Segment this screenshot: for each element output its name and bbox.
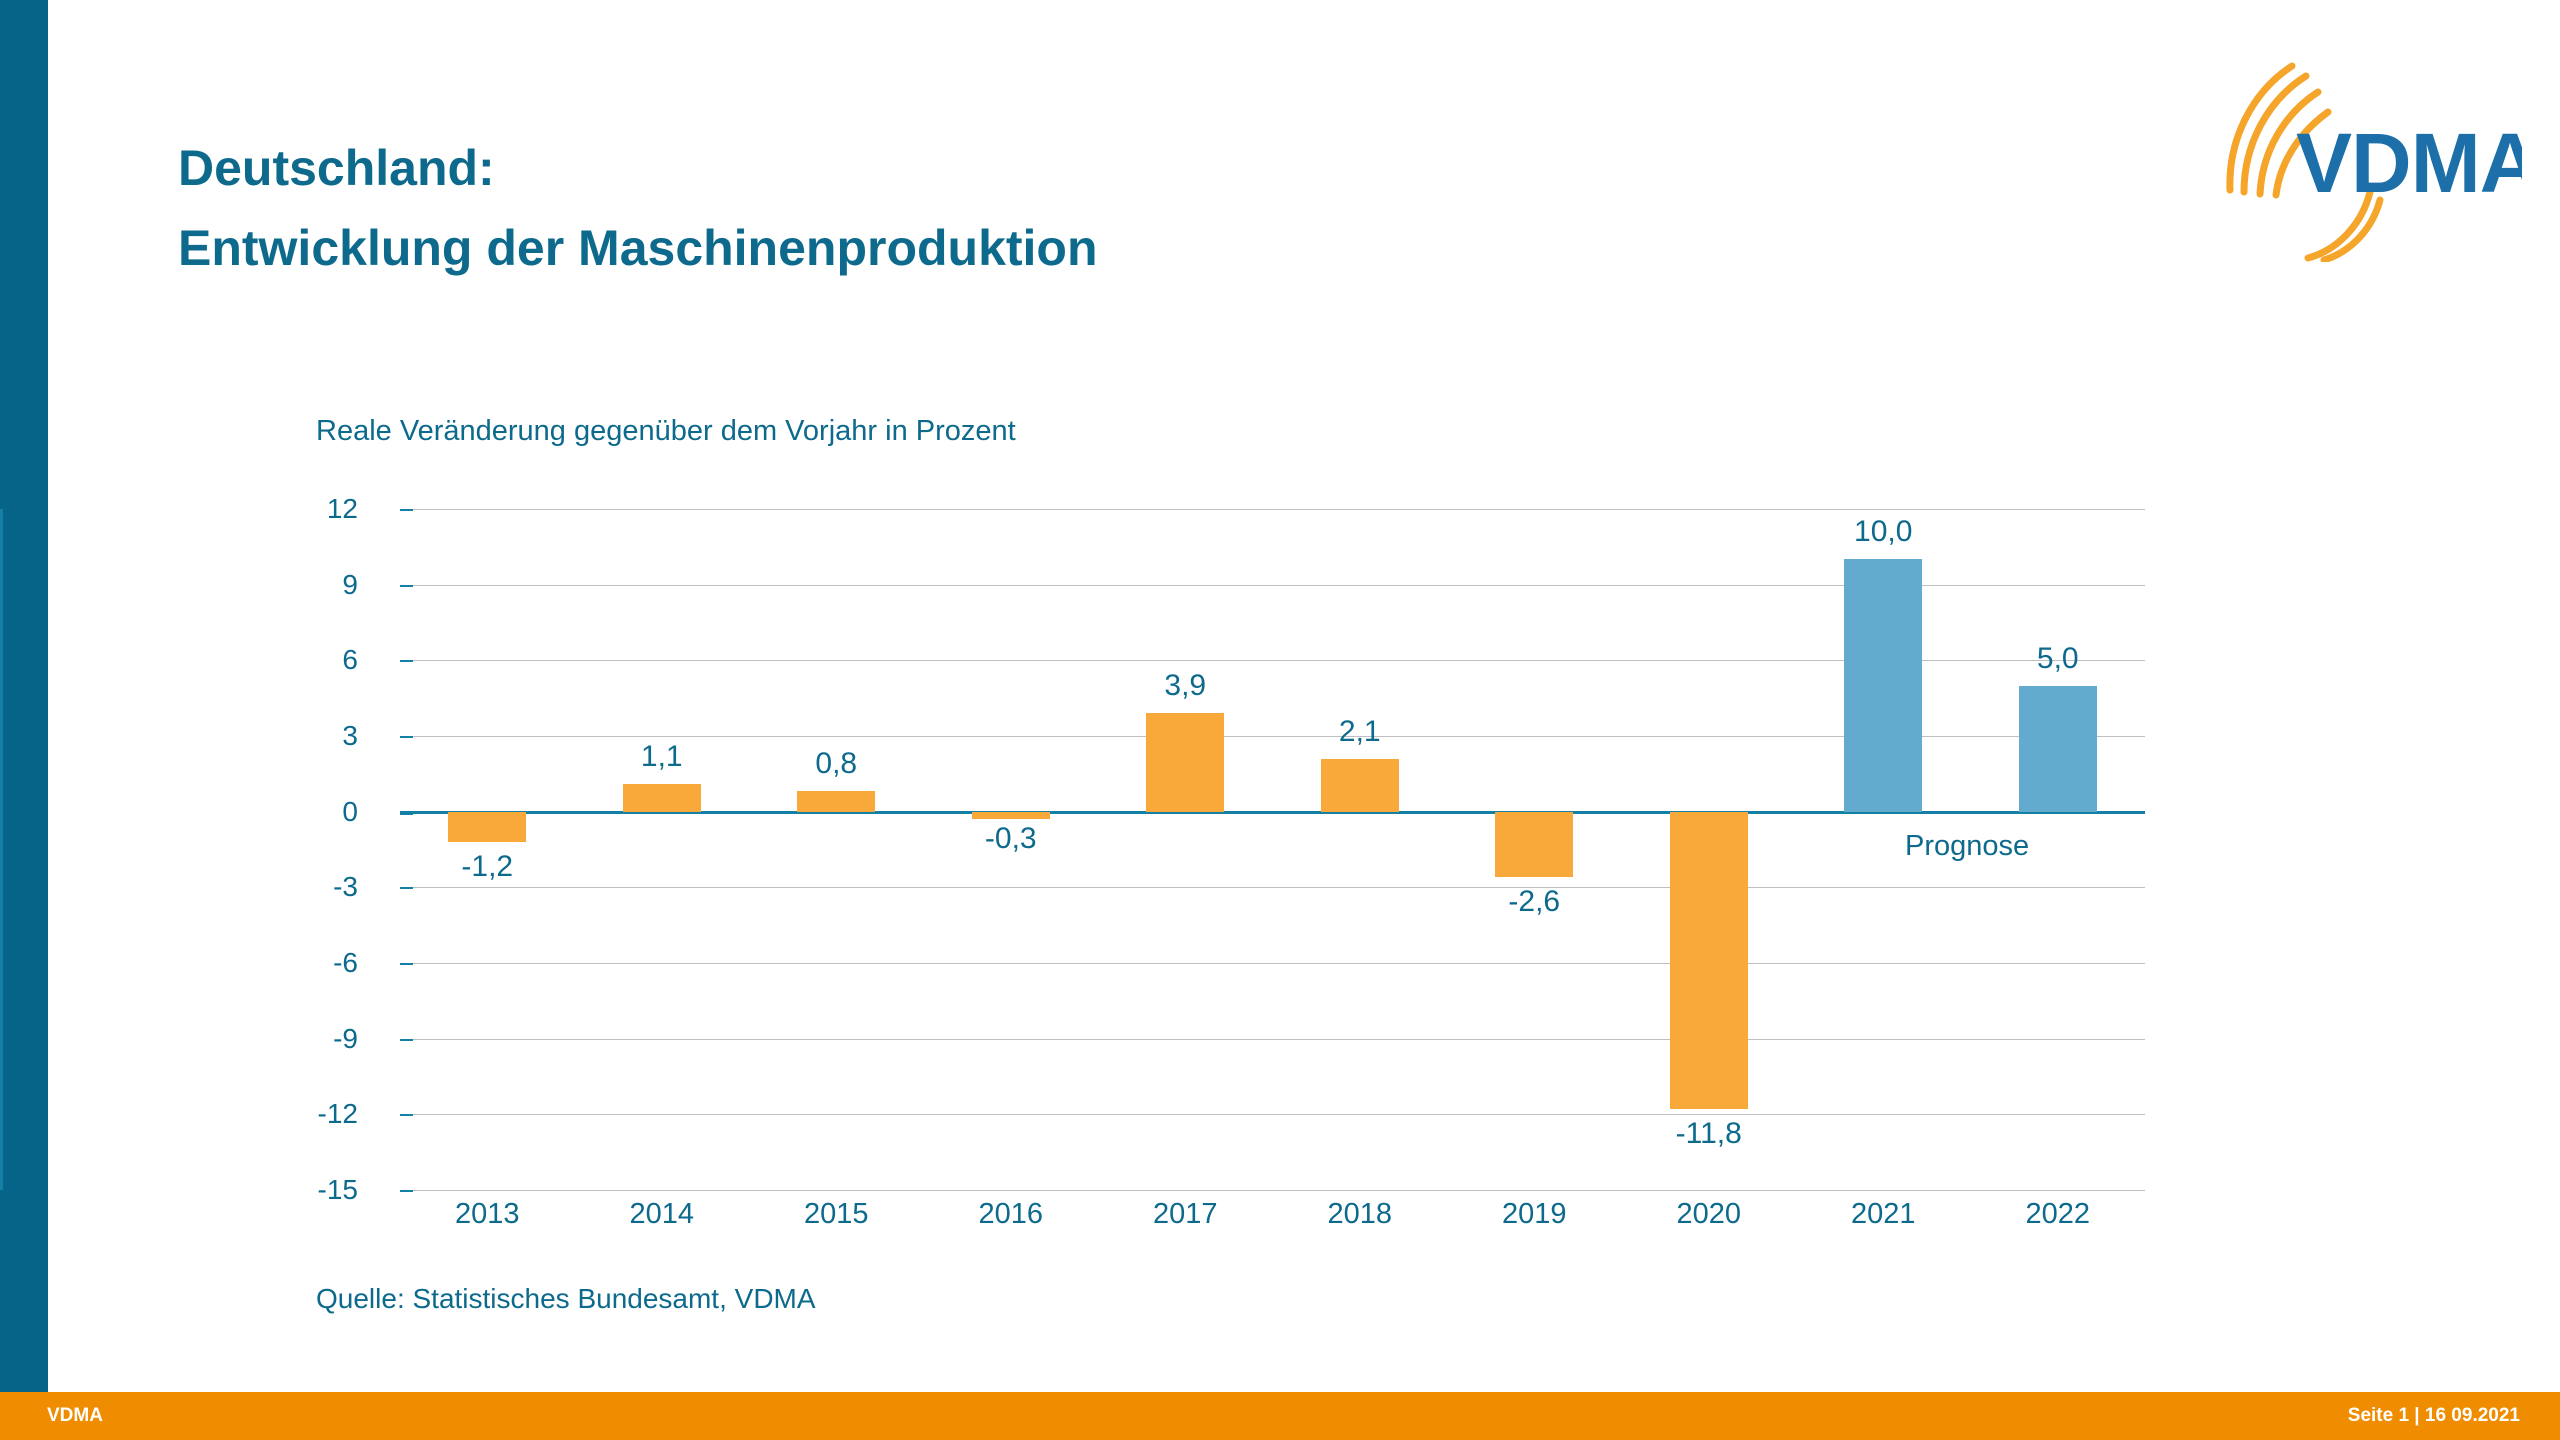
y-tick-mark <box>400 736 413 738</box>
x-axis-label-2013: 2013 <box>455 1198 520 1231</box>
x-axis-label-2019: 2019 <box>1502 1198 1567 1231</box>
y-tick-mark <box>400 660 413 662</box>
bar-value-label-2018: 2,1 <box>1339 715 1381 749</box>
footer-bar: VDMA Seite 1 | 16 09.2021 <box>0 1392 2560 1440</box>
title-line-1: Deutschland: <box>178 128 1978 208</box>
bar-value-label-2013: -1,2 <box>461 850 513 884</box>
y-axis-label: 9 <box>342 569 358 601</box>
y-tick-mark <box>400 1114 413 1116</box>
y-tick-mark <box>400 887 413 889</box>
bar-2018[interactable] <box>1321 759 1399 812</box>
x-axis-label-2017: 2017 <box>1153 1198 1218 1231</box>
gridline-neg6 <box>400 963 2145 964</box>
chart-plot-area: -1,21,10,8-0,33,92,1-2,6-11,810,05,0 <box>400 509 2145 1190</box>
bar-2017[interactable] <box>1146 713 1224 811</box>
slide-canvas: Deutschland: Entwicklung der Maschinenpr… <box>0 0 2560 1440</box>
x-axis-label-2014: 2014 <box>629 1198 694 1231</box>
y-axis-line <box>0 509 3 1190</box>
x-axis-label-2016: 2016 <box>978 1198 1043 1231</box>
gridline-neg12 <box>400 1114 2145 1115</box>
vdma-logo-svg: VDMA <box>2222 62 2522 262</box>
bar-value-label-2014: 1,1 <box>641 740 683 774</box>
bar-value-label-2015: 0,8 <box>815 747 857 781</box>
y-axis-label: -12 <box>318 1098 358 1130</box>
y-axis-label: 6 <box>342 644 358 676</box>
y-axis-label: -15 <box>318 1174 358 1206</box>
x-axis-label-2020: 2020 <box>1676 1198 1741 1231</box>
title-line-2: Entwicklung der Maschinenproduktion <box>178 208 1978 288</box>
bar-value-label-2016: -0,3 <box>985 822 1037 856</box>
chart-subtitle: Reale Veränderung gegenüber dem Vorjahr … <box>316 415 1016 448</box>
gridline-neg3 <box>400 887 2145 888</box>
bar-2019[interactable] <box>1495 812 1573 878</box>
bar-value-label-2017: 3,9 <box>1164 669 1206 703</box>
gridline-neg15 <box>400 1190 2145 1191</box>
y-axis-label: 3 <box>342 720 358 752</box>
bar-2015[interactable] <box>797 791 875 811</box>
y-tick-mark <box>400 509 413 511</box>
y-tick-mark <box>400 1190 413 1192</box>
y-axis-label: 0 <box>342 796 358 828</box>
logo-wordmark: VDMA <box>2296 116 2522 210</box>
prognose-annotation: Prognose <box>1905 830 2029 863</box>
bar-2016[interactable] <box>972 812 1050 820</box>
footer-page-info: Seite 1 | 16 09.2021 <box>2348 1405 2520 1427</box>
source-note: Quelle: Statistisches Bundesamt, VDMA <box>316 1283 816 1315</box>
bar-2020[interactable] <box>1670 812 1748 1110</box>
bar-2022[interactable] <box>2019 686 2097 812</box>
vdma-logo: VDMA <box>2222 62 2522 262</box>
y-tick-mark <box>400 585 413 587</box>
y-axis-label: -6 <box>333 947 358 979</box>
gridline-neg9 <box>400 1039 2145 1040</box>
left-accent-bar <box>0 0 48 1392</box>
bar-value-label-2020: -11,8 <box>1676 1117 1742 1151</box>
y-tick-mark <box>400 812 413 815</box>
x-axis-tick-labels: 2013201420152016201720182019202020212022 <box>400 1198 2145 1248</box>
x-axis-label-2015: 2015 <box>804 1198 869 1231</box>
x-axis-label-2021: 2021 <box>1851 1198 1916 1231</box>
y-axis-label: 12 <box>327 493 358 525</box>
y-axis-label: -9 <box>333 1023 358 1055</box>
x-axis-label-2022: 2022 <box>2025 1198 2090 1231</box>
gridline-12 <box>400 509 2145 510</box>
bar-value-label-2019: -2,6 <box>1508 885 1560 919</box>
y-tick-mark <box>400 1039 413 1041</box>
x-axis-label-2018: 2018 <box>1327 1198 1392 1231</box>
page-title: Deutschland: Entwicklung der Maschinenpr… <box>178 128 1978 288</box>
bar-2014[interactable] <box>623 784 701 812</box>
y-axis-label: -3 <box>333 871 358 903</box>
y-axis-tick-labels: 129630-3-6-9-12-15 <box>280 509 380 1190</box>
bar-2021[interactable] <box>1844 559 1922 811</box>
bar-2013[interactable] <box>448 812 526 842</box>
bar-value-label-2021: 10,0 <box>1854 515 1912 549</box>
y-tick-mark <box>400 963 413 965</box>
bar-value-label-2022: 5,0 <box>2037 642 2079 676</box>
footer-brand: VDMA <box>47 1405 103 1427</box>
